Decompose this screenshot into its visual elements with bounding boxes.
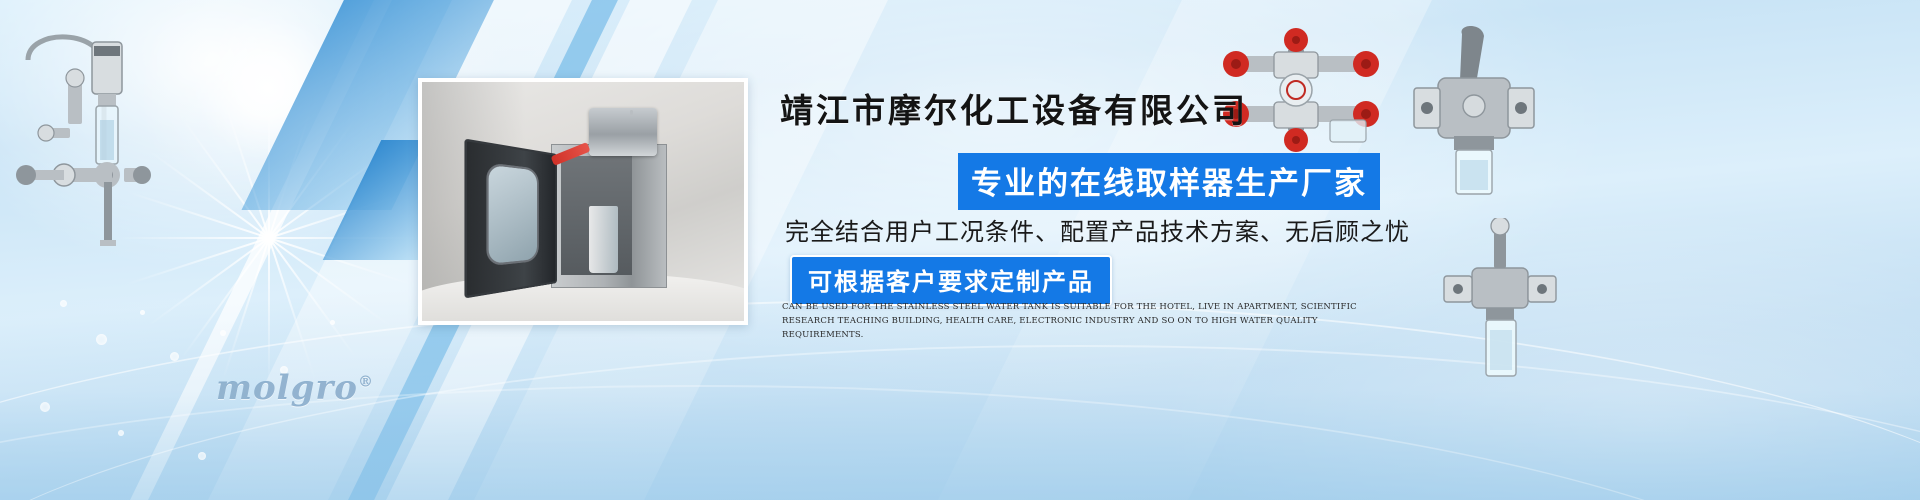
promo-banner: 靖江市摩尔化工设备有限公司 专业的在线取样器生产厂家 完全结合用户工况条件、配置… <box>0 0 1920 500</box>
company-name: 靖江市摩尔化工设备有限公司 <box>780 84 1248 132</box>
customization-cta-badge[interactable]: 可根据客户要求定制产品 <box>790 255 1112 306</box>
product-photo[interactable] <box>418 78 748 325</box>
banner-subline: 完全结合用户工况条件、配置产品技术方案、无后顾之忧 <box>785 212 1410 247</box>
tagline-highlight-badge: 专业的在线取样器生产厂家 <box>958 153 1380 210</box>
product-photo-image <box>422 82 744 321</box>
brand-watermark: molgro® <box>216 368 374 408</box>
brand-watermark-text: molgro <box>216 368 358 408</box>
left-equipment-illustration <box>8 20 168 310</box>
registered-trademark-icon: ® <box>358 373 374 391</box>
banner-text-block: 靖江市摩尔化工设备有限公司 专业的在线取样器生产厂家 完全结合用户工况条件、配置… <box>780 0 1480 500</box>
fineprint-english: Can be used for the stainless steel wate… <box>782 300 1402 342</box>
